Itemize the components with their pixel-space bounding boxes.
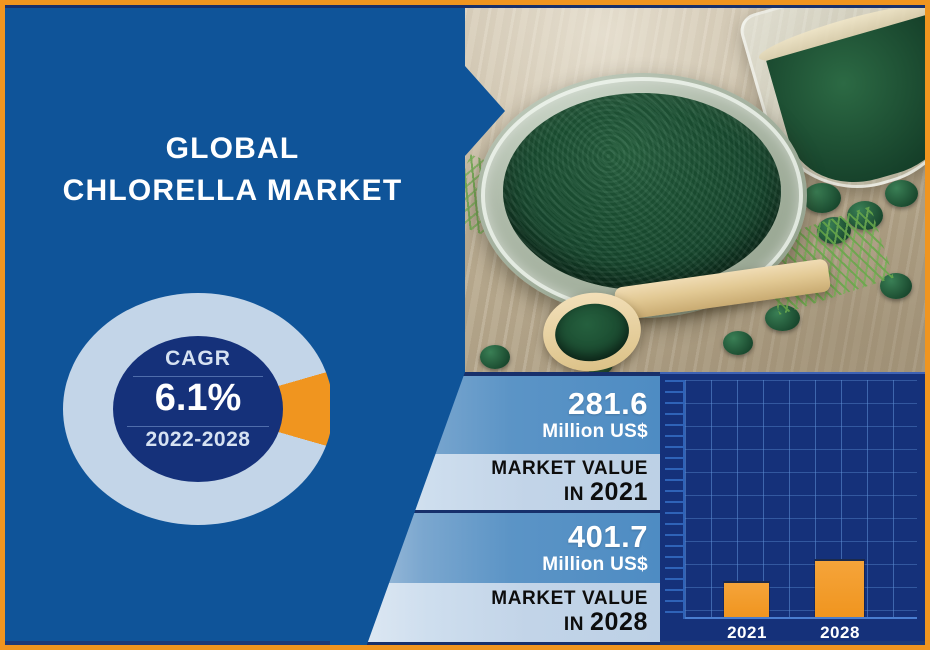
donut-text-group: CAGR 6.1% 2022-2028	[113, 336, 283, 482]
caption-2028-year: 2028	[590, 608, 648, 636]
band-divider	[330, 642, 660, 646]
caption-2028-prefix: IN	[564, 614, 590, 635]
market-value-2021-number: 281.6	[568, 387, 648, 421]
chart-gridlines	[685, 380, 917, 619]
tablet-icon	[480, 345, 510, 369]
caption-2028-line1: MARKET VALUE	[491, 588, 648, 610]
bar-label-2028: 2028	[806, 623, 874, 643]
caption-2028-line2: IN 2028	[564, 610, 648, 637]
tablet-icon	[803, 183, 841, 213]
cagr-donut-chart: CAGR 6.1% 2022-2028	[63, 293, 333, 525]
chlorella-powder	[503, 93, 781, 290]
spoon-powder	[551, 299, 632, 366]
page-title: GLOBAL CHLORELLA MARKET	[20, 128, 445, 212]
caption-2021-line2: IN 2021	[564, 480, 648, 507]
infographic-canvas: GLOBAL CHLORELLA MARKET CAGR 6.1% 2022-2…	[0, 0, 930, 650]
title-line-2: CHLORELLA MARKET	[20, 170, 445, 212]
donut-center: CAGR 6.1% 2022-2028	[113, 336, 283, 482]
chart-x-axis	[685, 617, 917, 619]
bar-label-2021: 2021	[714, 623, 780, 643]
market-growth-bar-chart: 2021 2028	[660, 372, 925, 645]
bar-2021	[724, 581, 769, 617]
bar-2028	[815, 559, 864, 617]
panel-bottom-strip	[0, 641, 345, 650]
chart-bottom-border	[660, 641, 925, 645]
caption-2021-prefix: IN	[564, 484, 590, 505]
tablet-icon	[885, 180, 918, 207]
chlorella-product-photo	[465, 5, 925, 373]
cagr-period: 2022-2028	[113, 428, 283, 452]
cagr-divider-bottom	[127, 426, 269, 427]
chart-top-border	[660, 372, 925, 374]
market-value-2028-unit: Million US$	[542, 554, 648, 576]
cagr-label: CAGR	[113, 347, 283, 371]
market-value-2028-number: 401.7	[568, 520, 648, 554]
title-line-1: GLOBAL	[20, 128, 445, 170]
tablet-icon	[723, 331, 753, 355]
cagr-value: 6.1%	[113, 377, 283, 420]
market-value-2021-unit: Million US$	[542, 421, 648, 443]
inner-top-rule	[5, 5, 925, 8]
chart-ruler-ticks	[665, 380, 685, 619]
caption-2021-line1: MARKET VALUE	[491, 458, 648, 480]
caption-2021-year: 2021	[590, 478, 648, 506]
